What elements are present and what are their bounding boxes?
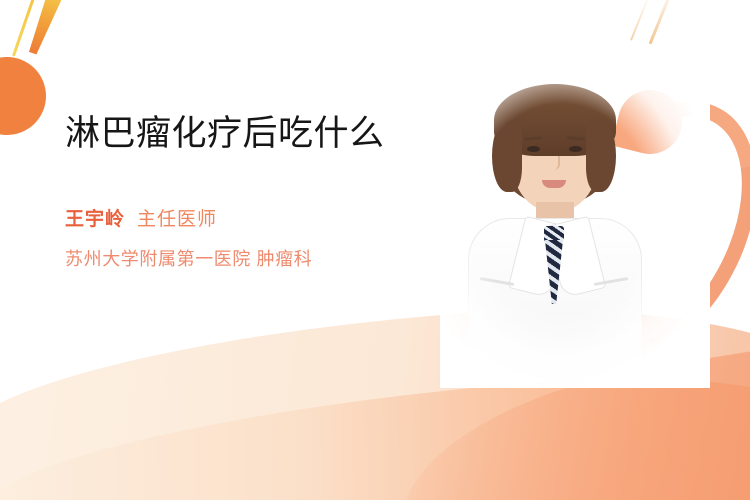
orange-wedge-decoration: [27, 0, 67, 57]
orange-circle-decoration: [0, 57, 46, 135]
diagonal-hairline-icon: [630, 0, 650, 41]
diagonal-hairline-icon: [649, 0, 673, 45]
doctor-affiliation: 苏州大学附属第一医院 肿瘤科: [65, 245, 415, 271]
doctor-byline: 王宇岭主任医师: [65, 204, 415, 231]
doctor-portrait: [440, 78, 710, 388]
portrait-fade-overlay: [440, 78, 710, 388]
page-title: 淋巴瘤化疗后吃什么: [65, 112, 395, 156]
text-block: 淋巴瘤化疗后吃什么 王宇岭主任医师 苏州大学附属第一医院 肿瘤科: [65, 112, 415, 271]
doctor-intro-card: 淋巴瘤化疗后吃什么 王宇岭主任医师 苏州大学附属第一医院 肿瘤科: [0, 0, 750, 500]
yellow-line-decoration: [12, 0, 37, 57]
doctor-name: 王宇岭: [65, 209, 125, 230]
parallelogram-outline-decoration: [143, 362, 177, 412]
doctor-rank: 主任医师: [137, 209, 217, 230]
